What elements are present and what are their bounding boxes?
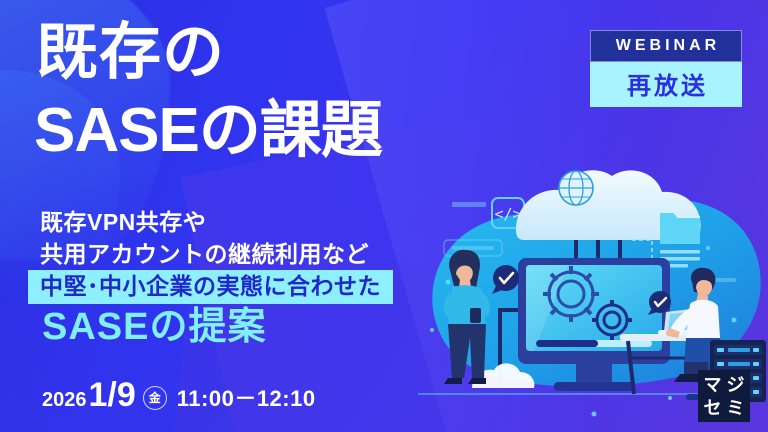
logo-char-one: マ bbox=[704, 376, 722, 394]
page-title-line-one: 既存の bbox=[36, 22, 225, 84]
schedule-time: 11:00－12:10 bbox=[177, 381, 316, 413]
schedule-bar: 2026 1/9 金 11:00－12:10 bbox=[42, 376, 316, 415]
schedule-month-day: 1/9 bbox=[89, 376, 136, 415]
page-title-line-two: SASEの課題 bbox=[34, 100, 382, 162]
logo-char-four: ミ bbox=[727, 399, 745, 417]
subtitle-line-two: 共用アカウントの継続利用など bbox=[40, 235, 369, 269]
highlight-band: 中堅･中小企業の実態に合わせた bbox=[28, 270, 393, 304]
logo-char-two: ジ bbox=[727, 376, 745, 394]
globe-icon bbox=[559, 171, 593, 205]
badge-rebroadcast-label: 再放送 bbox=[590, 62, 742, 107]
webinar-banner: WEBINAR 再放送 bbox=[0, 0, 768, 432]
badge-webinar-label: WEBINAR bbox=[590, 30, 742, 62]
webinar-badge: WEBINAR 再放送 bbox=[590, 30, 742, 107]
schedule-day-of-week: 金 bbox=[143, 386, 167, 410]
majisemi-logo: マ ジ セ ミ bbox=[698, 370, 750, 422]
schedule-year: 2026 bbox=[42, 389, 87, 412]
banner-copy: 既存の SASEの課題 既存VPN共存や 共用アカウントの継続利用など 中堅･中… bbox=[0, 0, 560, 432]
proposal-headline: SASEの提案 bbox=[42, 308, 266, 346]
logo-char-three: セ bbox=[704, 399, 722, 417]
subtitle-line-one: 既存VPN共存や bbox=[40, 203, 206, 237]
